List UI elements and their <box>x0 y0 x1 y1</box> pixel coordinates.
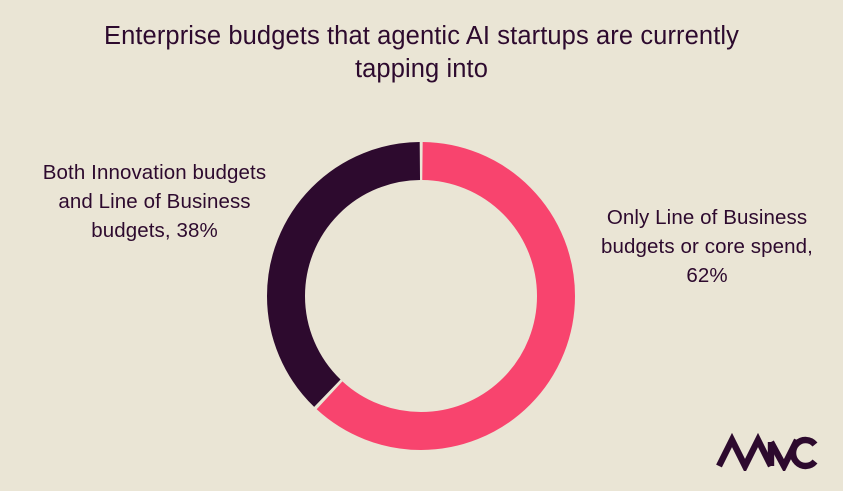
mmc-wordmark-icon <box>715 433 819 471</box>
donut-chart-svg <box>267 142 575 450</box>
slice-label-line-of-business: Only Line of Business budgets or core sp… <box>596 203 818 290</box>
mmc-logo-svg <box>715 433 819 471</box>
page-title: Enterprise budgets that agentic AI start… <box>0 20 843 86</box>
slice-label-both-budgets: Both Innovation budgets and Line of Busi… <box>42 158 267 245</box>
chart-page: Enterprise budgets that agentic AI start… <box>0 0 843 491</box>
donut-chart <box>267 142 575 450</box>
